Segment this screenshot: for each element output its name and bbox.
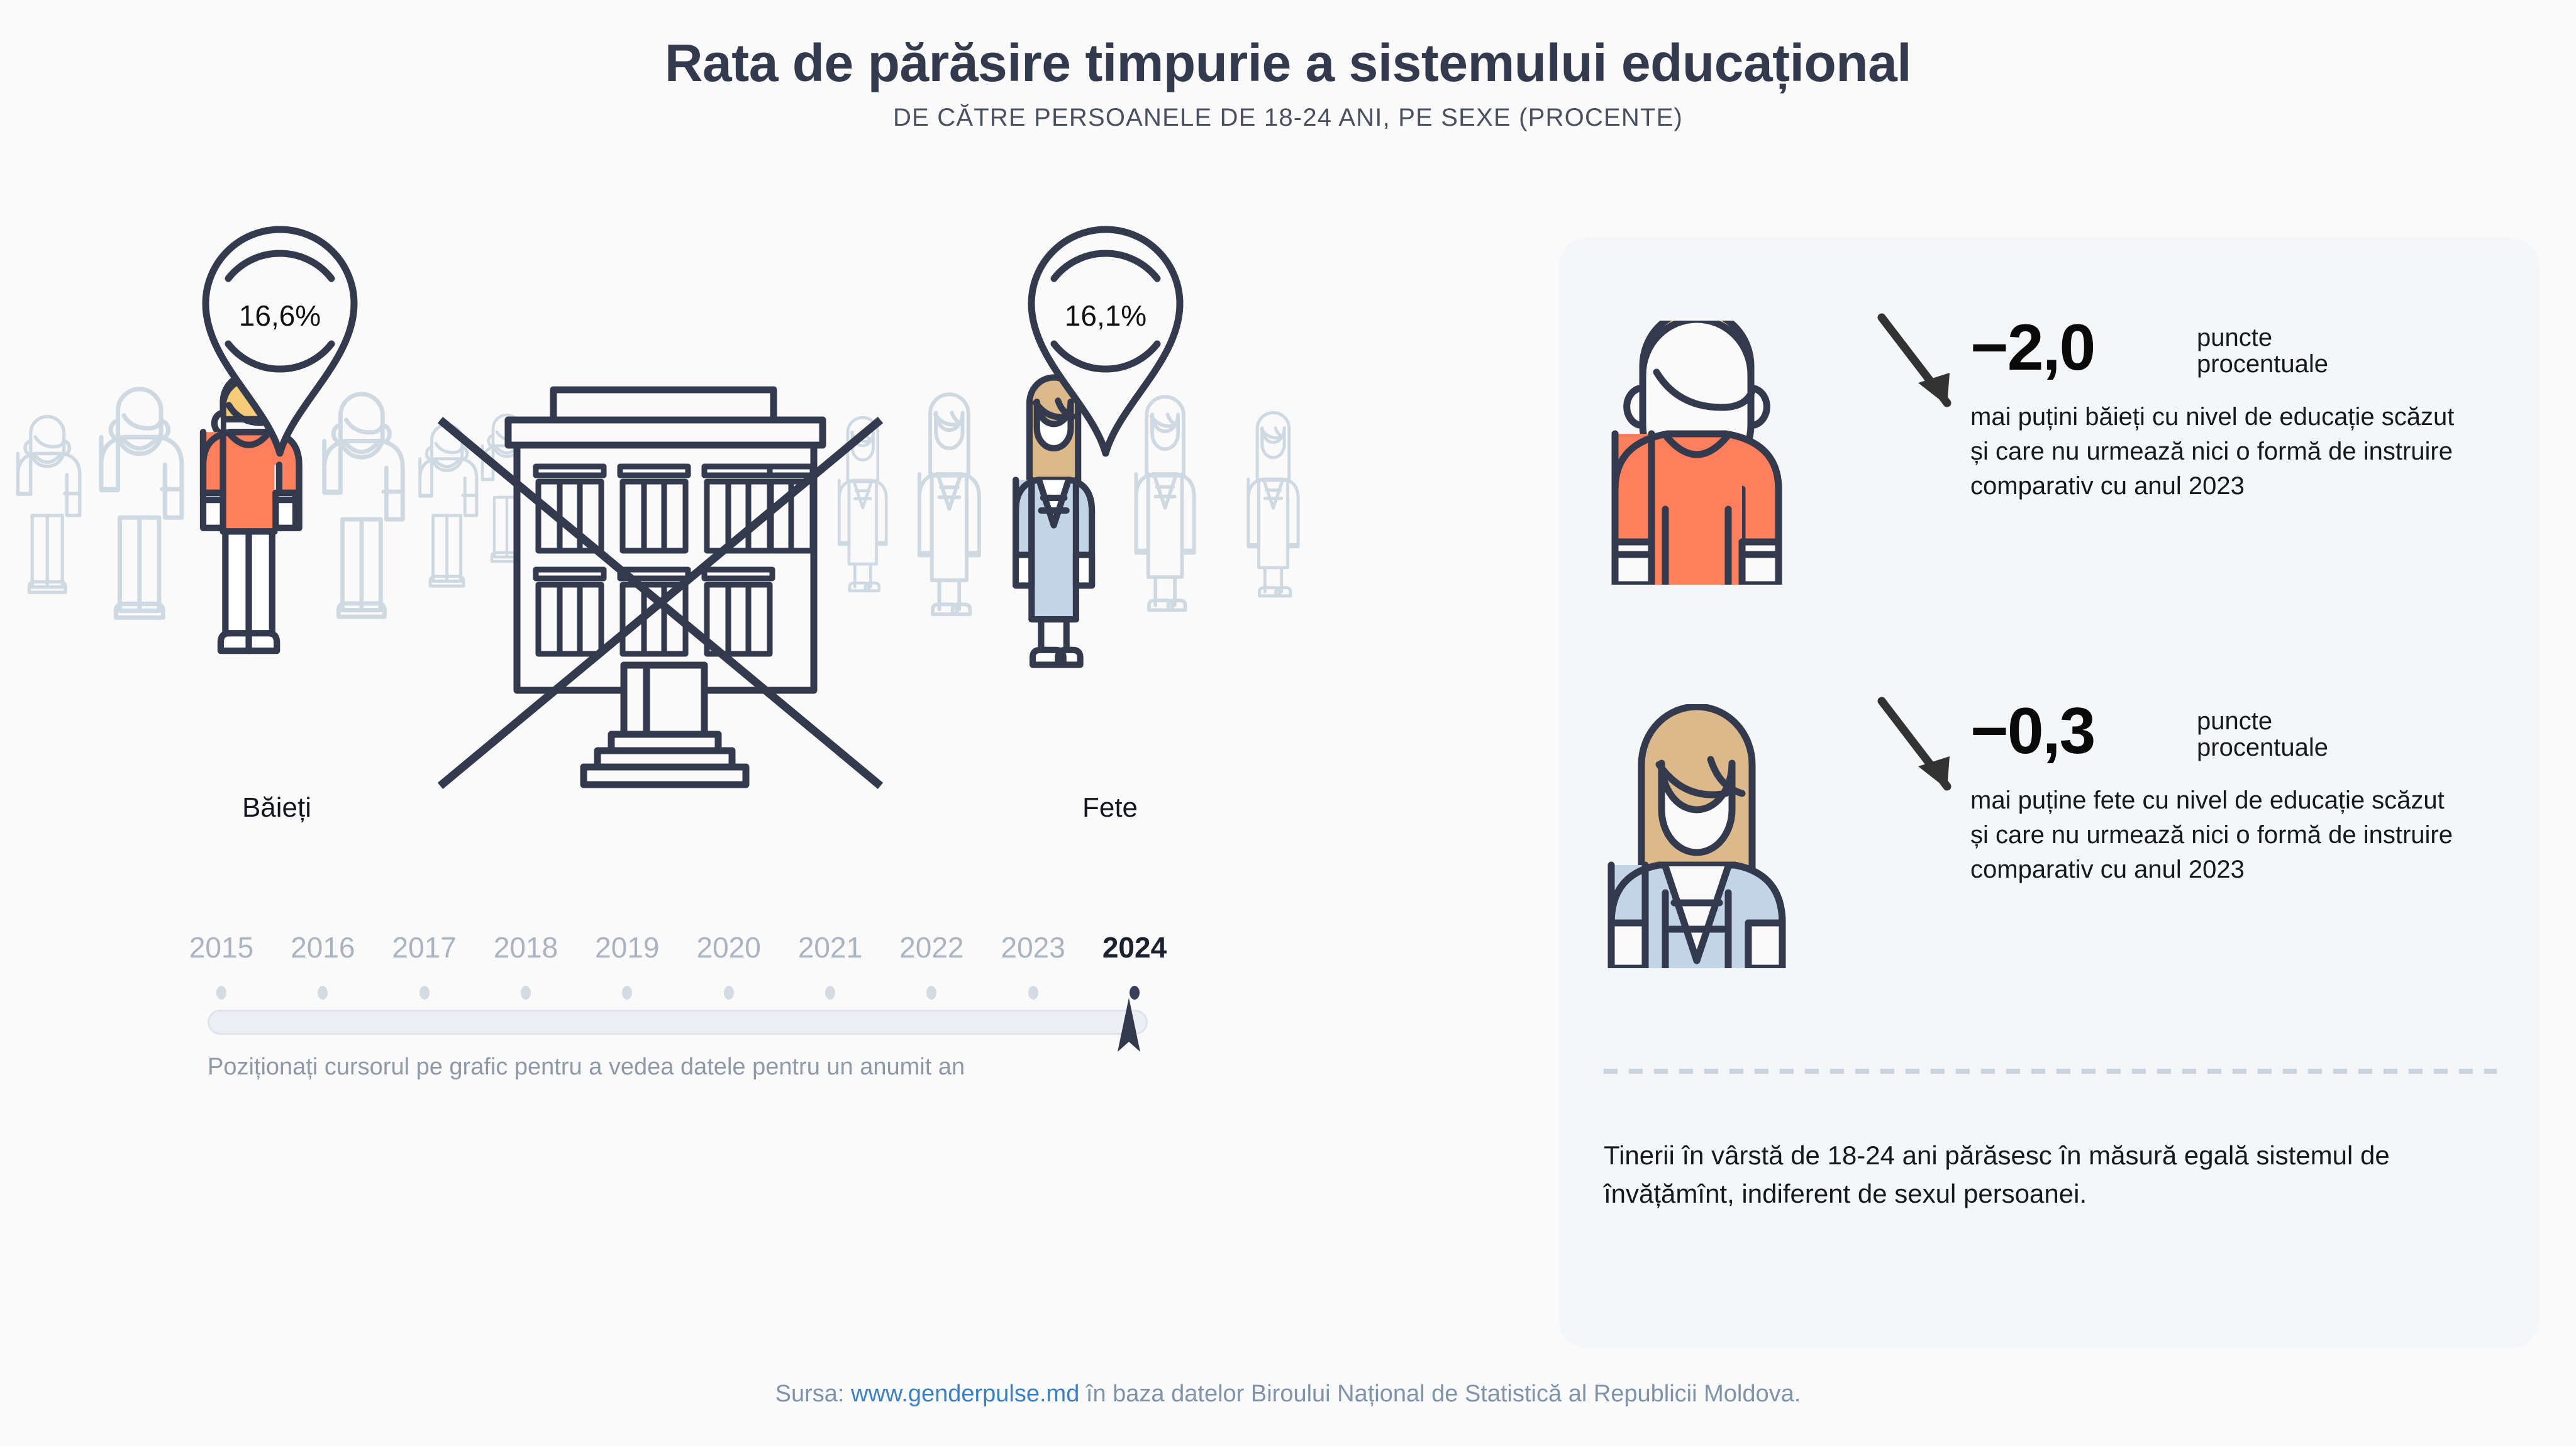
- page-title: Rata de părăsire timpurie a sistemului e…: [0, 33, 2576, 94]
- year-labels-row: 2015201620172018201920202021202220232024: [208, 930, 1189, 971]
- year-dot-2022[interactable]: [926, 986, 936, 1000]
- year-label-2019[interactable]: 2019: [595, 930, 659, 964]
- year-label-2022[interactable]: 2022: [899, 930, 963, 964]
- year-slider[interactable]: 2015201620172018201920202021202220232024…: [208, 930, 1189, 1094]
- pin-shape-icon: [1018, 223, 1194, 462]
- pin-shape-icon: [192, 223, 368, 462]
- group-label-girls: Fete: [984, 792, 1236, 824]
- slider-cursor-icon[interactable]: [1115, 998, 1143, 1056]
- year-dots-row: [208, 981, 1189, 1006]
- pin-value-girls: 16,1%: [1018, 299, 1194, 333]
- slider-hint: Poziționați cursorul pe grafic pentru a …: [208, 1054, 965, 1081]
- unit-line-1: puncte: [2197, 708, 2328, 734]
- year-dot-2021[interactable]: [825, 986, 835, 1000]
- group-label-boys: Băieți: [151, 792, 402, 824]
- year-label-2021[interactable]: 2021: [798, 930, 862, 964]
- source-link[interactable]: www.genderpulse.md: [851, 1381, 1079, 1407]
- unit-line-1: puncte: [2197, 324, 2328, 351]
- year-label-2016[interactable]: 2016: [291, 930, 355, 964]
- year-dot-2015[interactable]: [216, 986, 226, 1000]
- pin-value-boys: 16,6%: [192, 299, 368, 333]
- year-label-2020[interactable]: 2020: [696, 930, 760, 964]
- change-unit-girls: puncte procentuale: [2197, 708, 2328, 761]
- change-value-girls: −0,3: [1970, 694, 2094, 769]
- year-dot-2016[interactable]: [318, 986, 328, 1000]
- change-value-boys: −2,0: [1970, 311, 2094, 385]
- arrow-down-right-icon: [1873, 310, 1974, 417]
- page-subtitle: DE CĂTRE PERSOANELE DE 18-24 ANI, PE SEX…: [0, 104, 2576, 132]
- arrow-down-right-icon: [1873, 693, 1974, 800]
- source-footer: Sursa: www.genderpulse.md în baza datelo…: [0, 1381, 2576, 1408]
- year-label-2024[interactable]: 2024: [1102, 930, 1167, 964]
- year-dot-2018[interactable]: [521, 986, 531, 1000]
- year-dot-2019[interactable]: [622, 986, 632, 1000]
- panel-divider: [1604, 1069, 2497, 1074]
- source-suffix: în baza datelor Biroului Național de Sta…: [1079, 1381, 1801, 1407]
- unit-line-2: procentuale: [2197, 734, 2328, 761]
- year-dot-2023[interactable]: [1028, 986, 1038, 1000]
- summary-panel: −2,0 puncte procentuale mai puțini băieț…: [1558, 238, 2540, 1348]
- boy-avatar: [1596, 321, 1797, 585]
- unit-line-2: procentuale: [2197, 351, 2328, 377]
- panel-conclusion: Tinerii în vârstă de 18-24 ani părăsesc …: [1604, 1137, 2503, 1213]
- year-label-2017[interactable]: 2017: [392, 930, 456, 964]
- year-label-2018[interactable]: 2018: [494, 930, 558, 964]
- card-description-boys: mai puțini băieți cu nivel de educație s…: [1970, 400, 2467, 504]
- value-pin-girls: 16,1%: [1018, 223, 1194, 462]
- source-prefix: Sursa:: [775, 1381, 851, 1407]
- change-unit-boys: puncte procentuale: [2197, 324, 2328, 378]
- value-pin-boys: 16,6%: [192, 223, 368, 462]
- slider-track[interactable]: [208, 1010, 1148, 1035]
- year-dot-2020[interactable]: [724, 986, 734, 1000]
- card-description-girls: mai puține fete cu nivel de educație scă…: [1970, 783, 2467, 888]
- infographic-page: Rata de părăsire timpurie a sistemului e…: [0, 0, 2576, 1446]
- girl-avatar: [1596, 704, 1797, 968]
- school-building-icon: [440, 390, 880, 786]
- year-label-2015[interactable]: 2015: [189, 930, 253, 964]
- year-label-2023[interactable]: 2023: [1001, 930, 1065, 964]
- year-dot-2017[interactable]: [419, 986, 430, 1000]
- figures-stage: 16,6% 16,1% Băieți Fete: [0, 207, 1509, 836]
